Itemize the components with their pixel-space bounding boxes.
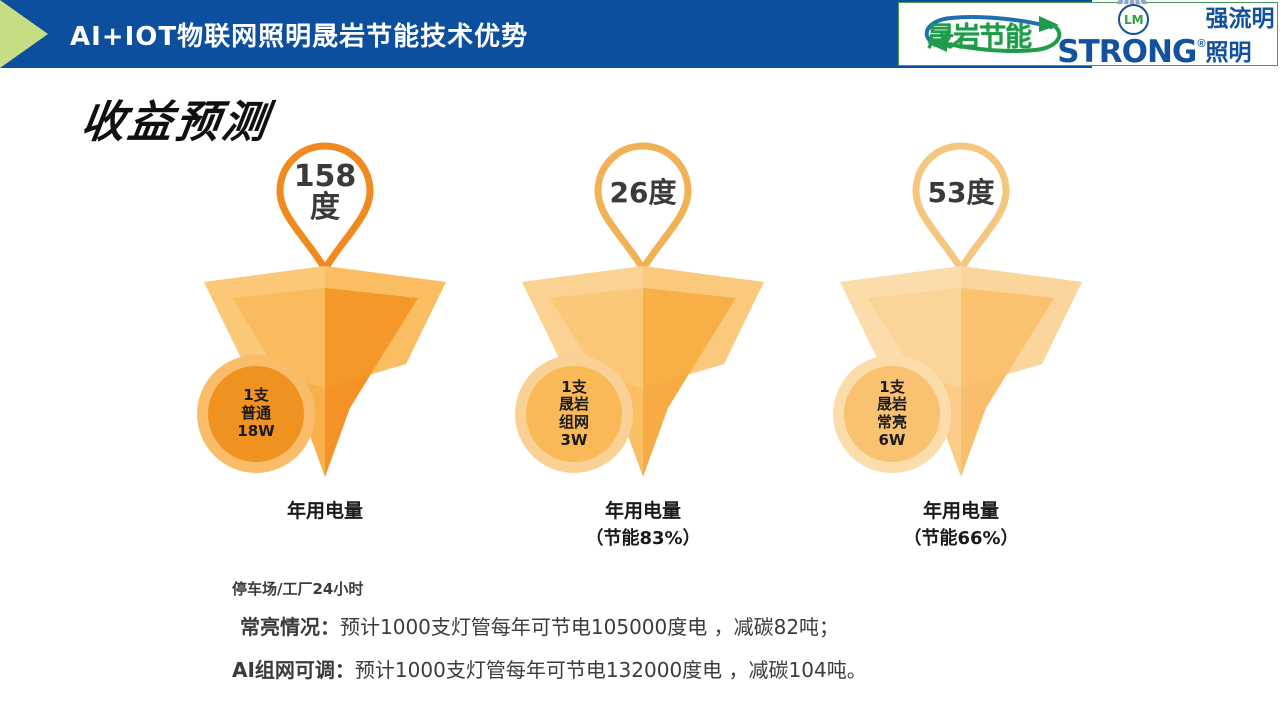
pin-shape-icon [908,140,1014,275]
funnel-caption: 年用电量 （节能66%） [801,498,1121,552]
spec-bubble-core: 1支 晟岩 组网 3W [526,366,622,462]
spec-line: 1支 [561,379,586,397]
spec-line: 普通 [241,405,271,423]
footnotes: 停车场/工厂24小时 常亮情况：预计1000支灯管每年可节电105000度电 ，… [232,578,1132,697]
funnel-column: 158 度 1支 普通 18W 年用电量 [165,140,485,560]
spec-line: 晟岩 [559,396,589,414]
note-rest: 预计1000支灯管每年可节电105000度电 ，减碳82吨； [340,615,839,639]
logo-lm-badge: LM [1118,4,1149,35]
spec-bubble-core: 1支 晟岩 常亮 6W [844,366,940,462]
spec-bubble: 1支 晟岩 组网 3W [515,355,633,473]
pin-path [598,146,688,269]
spec-line: 晟岩 [877,396,907,414]
page-header: AI+IOT物联网照明晟岩节能技术优势 晟岩节能 STRONG LM ® 强流明… [0,0,1280,68]
spec-bubble: 1支 普通 18W [197,355,315,473]
spec-line: 1支 [243,387,268,405]
map-pin-marker: 53度 [908,140,1014,275]
spec-line: 1支 [879,379,904,397]
spec-line: 3W [561,432,588,450]
pin-path [280,146,370,269]
pin-shape-icon [272,140,378,275]
page-title: AI+IOT物联网照明晟岩节能技术优势 [70,0,528,68]
note-line: AI组网可调：预计1000支灯管每年可节电132000度电 ，减碳104吨。 [232,654,1132,683]
spec-line: 常亮 [877,414,907,432]
spec-line: 组网 [559,414,589,432]
logo-strong-word: STRONG [1057,37,1196,68]
caption-sub: （节能66%） [801,526,1121,552]
note-lead: 常亮情况： [240,615,340,639]
funnel-caption: 年用电量 [165,498,485,526]
note-context: 停车场/工厂24小时 [232,578,1132,599]
funnel-caption: 年用电量 （节能83%） [483,498,803,552]
caption-main: 年用电量 [605,500,681,522]
funnel-column: 53度 1支 晟岩 常亮 6W 年用电量 （节能66%） [801,140,1121,560]
logo-shengyan-mark: 晟岩节能 [909,6,1049,62]
map-pin-marker: 26度 [590,140,696,275]
spec-bubble: 1支 晟岩 常亮 6W [833,355,951,473]
spec-bubble-core: 1支 普通 18W [208,366,304,462]
logo-shengyan-text: 晟岩节能 [927,15,1031,54]
logo-brand-cn: 强流明照明 [1205,0,1277,67]
caption-main: 年用电量 [287,500,363,522]
note-lead: AI组网可调： [232,658,355,682]
spec-line: 18W [237,423,274,441]
map-pin-marker: 158 度 [272,140,378,275]
note-line: 常亮情况：预计1000支灯管每年可节电105000度电 ，减碳82吨； [232,611,1132,640]
brand-logo: 晟岩节能 STRONG LM ® 强流明照明 [898,2,1278,66]
caption-main: 年用电量 [923,500,999,522]
note-rest: 预计1000支灯管每年可节电132000度电 ，减碳104吨。 [355,658,867,682]
registered-trademark-icon: ® [1197,38,1205,50]
pin-shape-icon [590,140,696,275]
logo-strong-lockup: STRONG LM ® 强流明照明 [1057,0,1277,68]
funnel-column: 26度 1支 晟岩 组网 3W 年用电量 （节能83%） [483,140,803,560]
pin-path [916,146,1006,269]
caption-sub: （节能83%） [483,526,803,552]
spec-line: 6W [879,432,906,450]
